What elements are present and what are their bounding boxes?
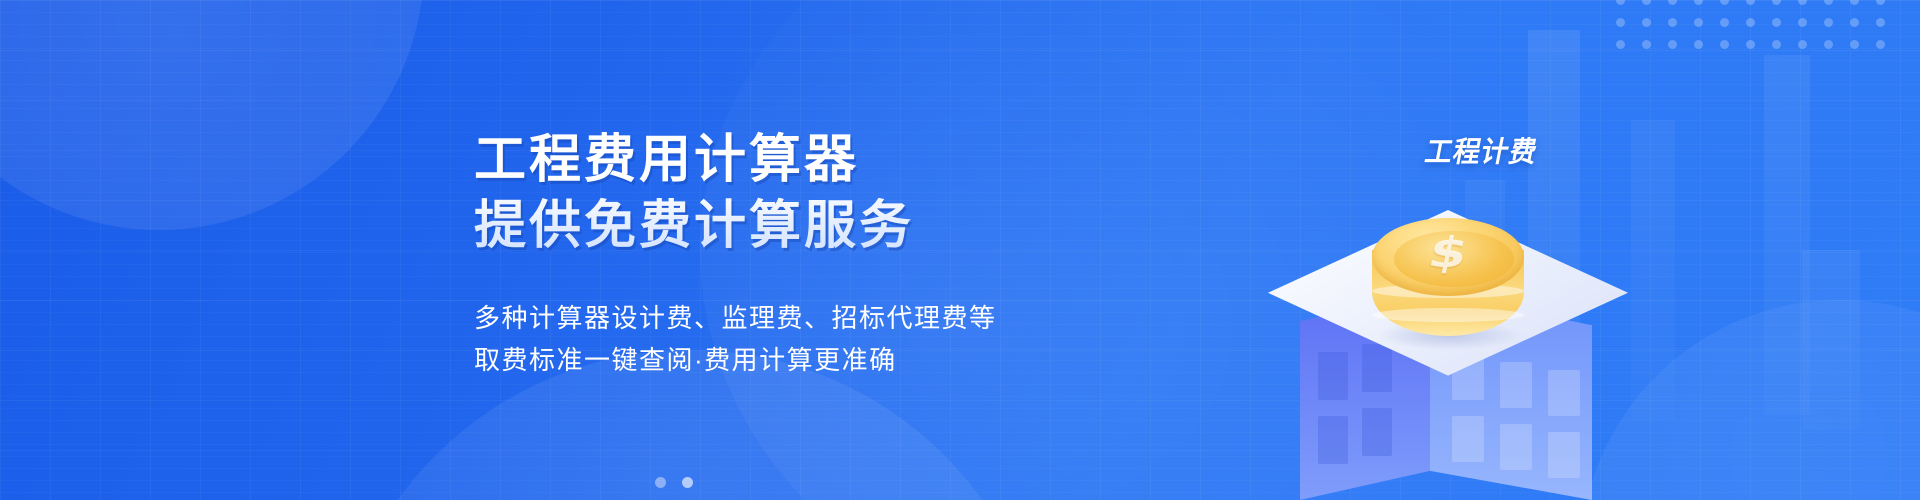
coin-top-face: $	[1372, 218, 1524, 296]
coin-ring-lower	[1372, 308, 1524, 322]
subtitle-line-2: 取费标准一键查阅·费用计算更准确	[474, 339, 1114, 381]
carousel-pagination[interactable]	[655, 477, 693, 488]
carousel-dot-1[interactable]	[655, 477, 666, 488]
isometric-city-illustration: $ 工程计费	[1180, 0, 1920, 500]
subtitle-line-1: 多种计算器设计费、监理费、招标代理费等	[474, 297, 1114, 339]
hero-banner: $ 工程计费 工程费用计算器 提供免费计算服务 多种计算器设计费、监理费、招标代…	[0, 0, 1920, 500]
gold-coin-stack: $	[1366, 212, 1530, 372]
background-tower-d	[1802, 250, 1860, 430]
hero-headline: 工程费用计算器 提供免费计算服务	[474, 128, 1114, 259]
illustration-label: 工程计费	[1422, 129, 1542, 170]
carousel-dot-2[interactable]	[682, 477, 693, 488]
hero-copy-block: 工程费用计算器 提供免费计算服务 多种计算器设计费、监理费、招标代理费等 取费标…	[474, 128, 1114, 381]
decorative-circle-top-left	[0, 0, 424, 230]
hero-subtitle: 多种计算器设计费、监理费、招标代理费等 取费标准一键查阅·费用计算更准确	[474, 297, 1114, 381]
headline-line-1: 工程费用计算器	[474, 131, 859, 189]
background-tower-c	[1631, 120, 1675, 420]
headline-line-2: 提供免费计算服务	[474, 194, 1114, 260]
dollar-sign-icon: $	[1368, 232, 1529, 274]
